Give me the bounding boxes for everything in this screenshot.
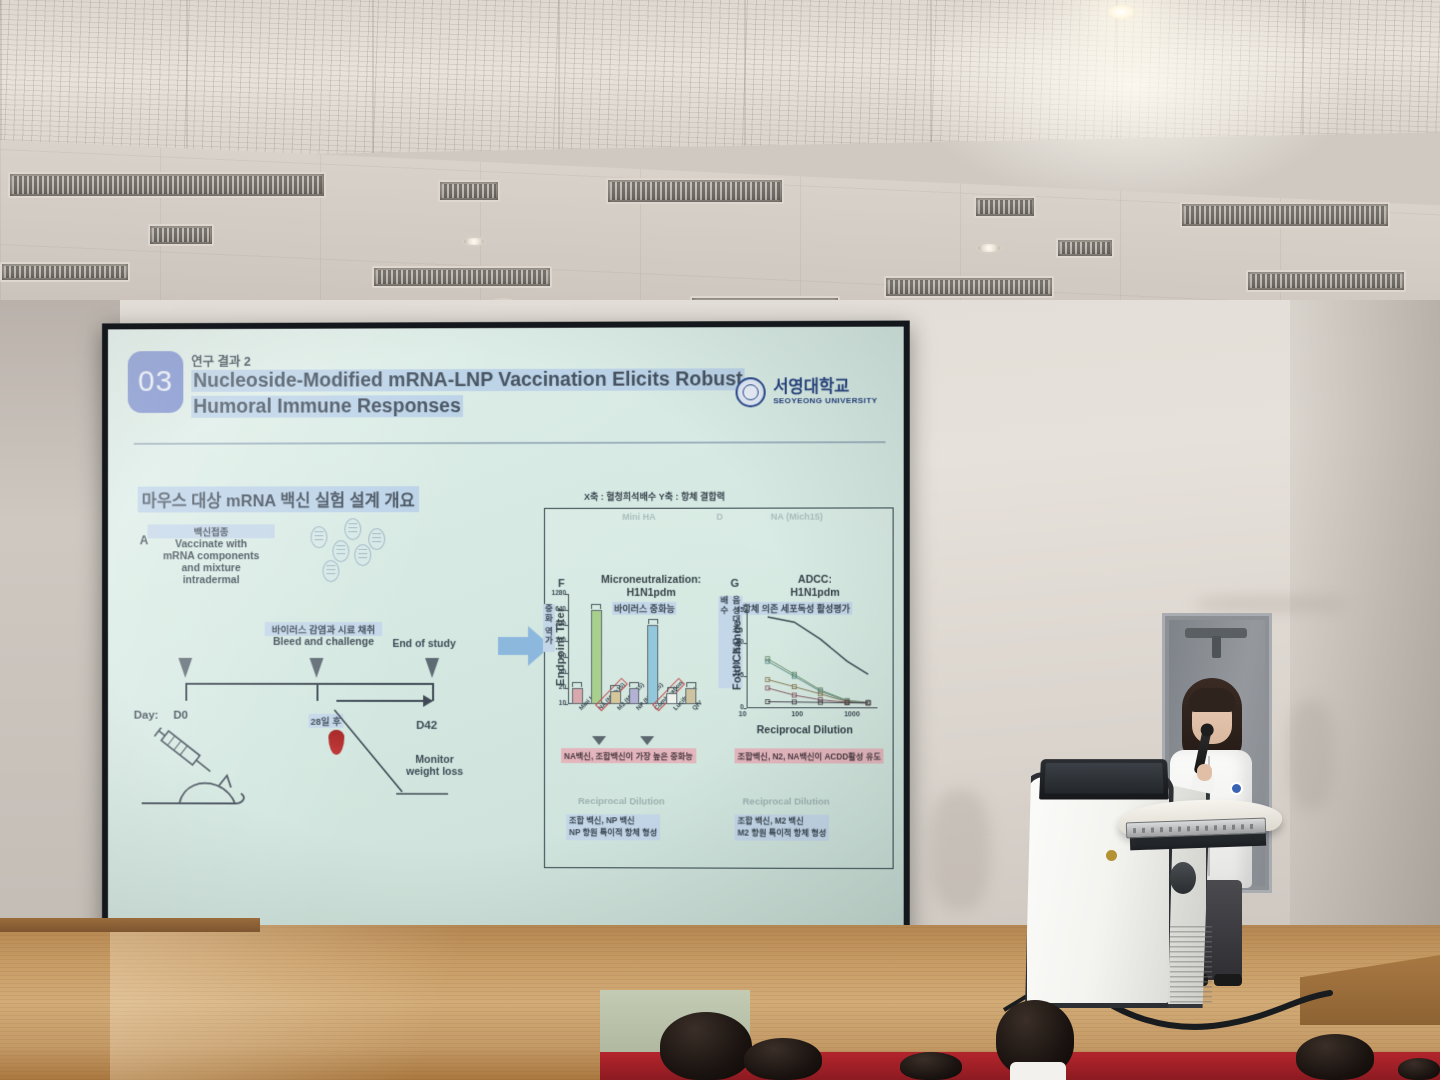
- timeline-marker-d0: [178, 658, 192, 678]
- lectern-monitor[interactable]: [1039, 759, 1169, 799]
- university-name-korean: 서영대학교: [773, 379, 877, 396]
- ceiling-light-fixture: [372, 266, 552, 288]
- chart-g-ytick: 15: [728, 606, 743, 613]
- ceiling-vent: [606, 178, 784, 204]
- lab-coat-emblem: [1230, 782, 1243, 795]
- timeline-marker-d28: [310, 658, 324, 678]
- wall-mark: [930, 790, 990, 910]
- right-wall-shadow: [1290, 300, 1440, 960]
- ceiling-vent: [974, 196, 1036, 218]
- note-right-line2: M2 항원 특이적 항체 형성: [738, 828, 827, 837]
- virus-particle-icon: [354, 544, 371, 566]
- panel-letter-g: G: [731, 578, 740, 590]
- step3-label-english: End of study: [378, 638, 470, 650]
- lectern-logo: [1106, 850, 1117, 861]
- audience-head: [1398, 1058, 1440, 1080]
- chart-f-ytick: 40: [546, 669, 566, 676]
- chart-f-errorbar: [648, 619, 658, 624]
- note-left: 조합 백신, NP 백신 NP 항원 특이적 항체 형성: [566, 814, 660, 840]
- virus-particle-icon: [322, 560, 339, 582]
- timeline-axis: [185, 683, 434, 685]
- ceiling-vent: [438, 180, 500, 202]
- chart-f-errorbar: [610, 685, 620, 690]
- slide-title: Nucleoside-Modified mRNA-LNP Vaccination…: [191, 367, 791, 420]
- chart-f-ytick: 10: [546, 700, 566, 707]
- lectern-vent-grill: [1170, 926, 1212, 1006]
- chart-g-xlabel: Reciprocal Dilution: [757, 724, 853, 736]
- chart-f-errorbar: [667, 687, 677, 692]
- chart-f-ytick: 160: [546, 637, 566, 644]
- chart-f-errorbar: [686, 682, 696, 687]
- ceiling-vent: [8, 172, 326, 198]
- chart-g-subtitle: H1N1pdm: [790, 587, 839, 599]
- projection-screen: 03 연구 결과 2 Nucleoside-Modified mRNA-LNP …: [102, 321, 910, 944]
- timeline-step-vaccinate: 백신접종 Vaccinate with mRNA components and …: [148, 524, 275, 586]
- step1-label-korean: 백신접종: [148, 524, 275, 538]
- chart-g-ytick: 10: [728, 639, 743, 646]
- callout-f: NA백신, 조합백신이 가장 높은 중화능: [561, 748, 696, 763]
- panel-letter-f: F: [558, 578, 565, 590]
- door-closer-arm: [1212, 636, 1221, 658]
- chart-f-ytick: 320: [546, 621, 566, 628]
- chart-g-title: ADCC: H1N1pdm: [747, 574, 884, 600]
- lectern-speaker-icon: [1170, 862, 1196, 894]
- audience-collar: [1010, 1062, 1066, 1080]
- step1-label-line3: and mixture: [148, 562, 275, 574]
- callout-arrow-f: [592, 736, 606, 745]
- ceiling-downlight: [976, 242, 1002, 254]
- virus-particle-icon: [332, 540, 349, 562]
- ceiling-light-fixture: [884, 276, 1054, 298]
- faded-label-na: NA (Mich15): [771, 512, 823, 522]
- university-logo: 서영대학교 SEOYEONG UNIVERSITY: [736, 377, 878, 407]
- monitor-weight-label: Monitor weight loss: [406, 754, 463, 778]
- ceiling-upper-tiles: [0, 0, 1440, 160]
- virus-particle-icon: [311, 526, 328, 548]
- note-left-line2: NP 항원 특이적 항체 형성: [569, 828, 657, 837]
- mouse-syringe-illustration: [136, 728, 295, 818]
- faded-panel-letter-d: D: [716, 512, 723, 522]
- chart-f-yaxis: [568, 594, 569, 704]
- audience-head: [900, 1052, 962, 1080]
- timeline-marker-d42: [425, 658, 439, 678]
- chart-f-plot: 102040801603206401280Mini HANA (Mich15)M…: [568, 594, 700, 704]
- chart-g-plot: 051015101001000: [747, 604, 878, 708]
- chart-f-bar: [648, 625, 659, 704]
- lectern[interactable]: [1022, 758, 1212, 1008]
- note-right: 조합 백신, M2 백신 M2 항원 특이적 항체 형성: [735, 814, 830, 840]
- ghost-axis-right: Reciprocal Dilution: [743, 796, 830, 807]
- chart-g-xtick: 10: [739, 711, 747, 718]
- audience-head: [660, 1012, 752, 1080]
- timeline-tick-mid: [316, 683, 318, 701]
- timeline-step-bleed: 바이러스 감염과 시료 채취 Bleed and challenge: [265, 622, 382, 648]
- chart-f-ytick: 80: [546, 653, 566, 660]
- timeline-tick-start: [185, 683, 187, 701]
- chart-f-ytick: 20: [546, 684, 566, 691]
- audience-head: [1296, 1034, 1374, 1080]
- university-seal-icon: [736, 377, 766, 407]
- note-left-line1: 조합 백신, NP 백신: [569, 816, 635, 825]
- ceiling-light-fixture: [1246, 270, 1406, 292]
- university-name-english: SEOYEONG UNIVERSITY: [773, 396, 877, 405]
- chart-f-errorbar: [572, 682, 582, 687]
- callout-arrow-f2: [640, 736, 654, 745]
- ceiling-vent: [1056, 238, 1114, 258]
- wall-mark: [1196, 596, 1346, 612]
- slide-number-badge: 03: [128, 351, 184, 413]
- ceiling-vent: [1180, 202, 1390, 228]
- chart-g-title-main: ADCC:: [798, 574, 832, 586]
- virus-particle-icon: [344, 518, 361, 540]
- slide-title-line1: Nucleoside-Modified mRNA-LNP Vaccination…: [191, 368, 744, 392]
- timeline-step-end: End of study: [378, 638, 470, 650]
- step1-label-line2: mRNA components: [148, 550, 275, 562]
- step2-label-english: Bleed and challenge: [265, 636, 382, 648]
- note-right-line1: 조합 백신, M2 백신: [738, 817, 804, 826]
- presenter-shoe: [1214, 974, 1242, 986]
- baseboard: [0, 918, 260, 932]
- ghost-axis-left: Reciprocal Dilution: [578, 796, 665, 807]
- chart-f-errorbar: [591, 604, 601, 609]
- axis-note: X축 : 혈청희석배수 Y축 : 항체 결합력: [584, 490, 725, 503]
- presenter-bangs: [1188, 688, 1236, 712]
- chart-f-title-main: Microneutralization:: [601, 574, 701, 586]
- chart-f-bar: [591, 610, 602, 704]
- day-axis-label: Day:: [134, 710, 159, 722]
- lecture-hall-scene: 03 연구 결과 2 Nucleoside-Modified mRNA-LNP …: [0, 0, 1440, 1080]
- chart-g-ytick: 5: [728, 672, 743, 679]
- day-d0-label: D0: [173, 710, 188, 722]
- chart-g-xtick: 1000: [844, 711, 860, 718]
- audience-head: [744, 1038, 822, 1080]
- header-divider: [134, 441, 886, 445]
- ceiling-spotlight: [1106, 4, 1136, 20]
- chart-f-ytick: 640: [546, 606, 566, 613]
- ceiling-vent: [148, 224, 214, 246]
- ceiling-vent: [0, 262, 130, 282]
- callout-g: 조합백신, N2, NA백신이 ACDD활성 유도: [735, 748, 884, 763]
- chart-f-ytick-mark: [565, 704, 568, 705]
- chart-f-errorbar: [629, 682, 639, 687]
- monitor-line1: Monitor: [406, 754, 463, 766]
- slide-kicker: 연구 결과 2: [191, 351, 250, 370]
- slide-header: 03 연구 결과 2 Nucleoside-Modified mRNA-LNP …: [108, 333, 904, 445]
- chart-f-bar: [629, 688, 640, 704]
- slide-surface: 03 연구 결과 2 Nucleoside-Modified mRNA-LNP …: [108, 327, 904, 938]
- slide-title-line2: Humoral Immune Responses: [191, 395, 463, 418]
- chart-g-series-layer: [747, 604, 878, 708]
- step2-label-korean: 바이러스 감염과 시료 채취: [265, 622, 382, 636]
- chart-g-line: [768, 617, 869, 674]
- chart-g-xtick: 100: [791, 711, 803, 718]
- step1-label-line4: intradermal: [148, 574, 275, 586]
- monitor-line2: weight loss: [406, 766, 463, 778]
- faded-label-minha: Mini HA: [622, 512, 656, 522]
- chart-g-ytick: 0: [728, 704, 743, 711]
- chart-f-ytick: 1280: [546, 590, 566, 597]
- chart-g-ytick-mark: [744, 708, 747, 709]
- wall-mark: [1288, 700, 1334, 810]
- ceiling-downlight: [462, 236, 486, 247]
- step1-label-line1: Vaccinate with: [148, 538, 275, 550]
- left-panel-heading: 마우스 대상 mRNA 백신 실험 설계 개요: [138, 486, 419, 512]
- timeline-arrow: [336, 700, 432, 702]
- virus-particle-icon: [368, 528, 385, 550]
